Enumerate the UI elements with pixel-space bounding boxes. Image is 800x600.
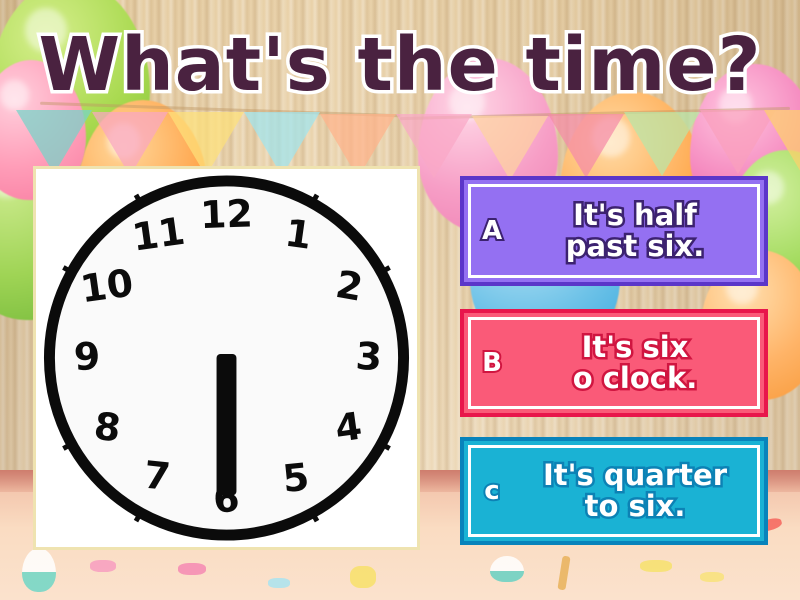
answer-text-c-line2: to six. [520, 491, 750, 522]
page-title: What's the time? [0, 22, 800, 108]
bunting-flag-8 [548, 114, 624, 178]
answer-letter-b: B [464, 348, 520, 378]
clock-number-9: 9 [73, 334, 102, 379]
answer-text-b: It's six o clock. [520, 332, 764, 393]
bunting-flag-7 [472, 116, 548, 180]
confetti-piece [22, 548, 56, 592]
clock-number-10: 10 [78, 260, 136, 311]
clock-hour-hand [217, 354, 237, 495]
clock-number-11: 11 [129, 209, 187, 260]
quiz-slide: What's the time? 12 [0, 0, 800, 600]
answer-option-c[interactable]: c It's quarter to six. [460, 437, 768, 545]
clock-number-7: 7 [142, 453, 173, 500]
clock-number-5: 5 [280, 455, 311, 502]
answer-letter-c: c [464, 476, 520, 506]
confetti-piece [640, 560, 672, 572]
clock-number-8: 8 [92, 404, 123, 451]
confetti-piece [350, 566, 376, 588]
confetti-piece [178, 563, 206, 575]
answer-text-a-line2: past six. [520, 231, 750, 262]
clock-number-12: 12 [199, 191, 253, 237]
confetti-piece [90, 560, 116, 572]
answer-option-a[interactable]: A It's half past six. [460, 176, 768, 286]
analog-clock: 12 1 2 3 4 5 6 7 8 9 10 11 [36, 169, 417, 547]
answer-text-b-line2: o clock. [520, 363, 750, 394]
confetti-piece [700, 572, 724, 582]
bunting-flag-9 [624, 112, 700, 176]
answer-text-b-line1: It's six [520, 332, 750, 363]
bunting-flag-1 [16, 110, 92, 174]
confetti-piece [490, 556, 524, 582]
clock-image-panel: 12 1 2 3 4 5 6 7 8 9 10 11 [33, 166, 420, 550]
clock-number-3: 3 [355, 334, 384, 379]
answer-text-c-line1: It's quarter [520, 460, 750, 491]
answer-text-a-line1: It's half [520, 200, 750, 231]
answer-option-b[interactable]: B It's six o clock. [460, 309, 768, 417]
answer-letter-a: A [464, 216, 520, 246]
confetti-piece [268, 578, 290, 588]
answer-text-c: It's quarter to six. [520, 460, 764, 521]
bunting-flag-11 [764, 110, 800, 174]
answer-text-a: It's half past six. [520, 200, 764, 261]
